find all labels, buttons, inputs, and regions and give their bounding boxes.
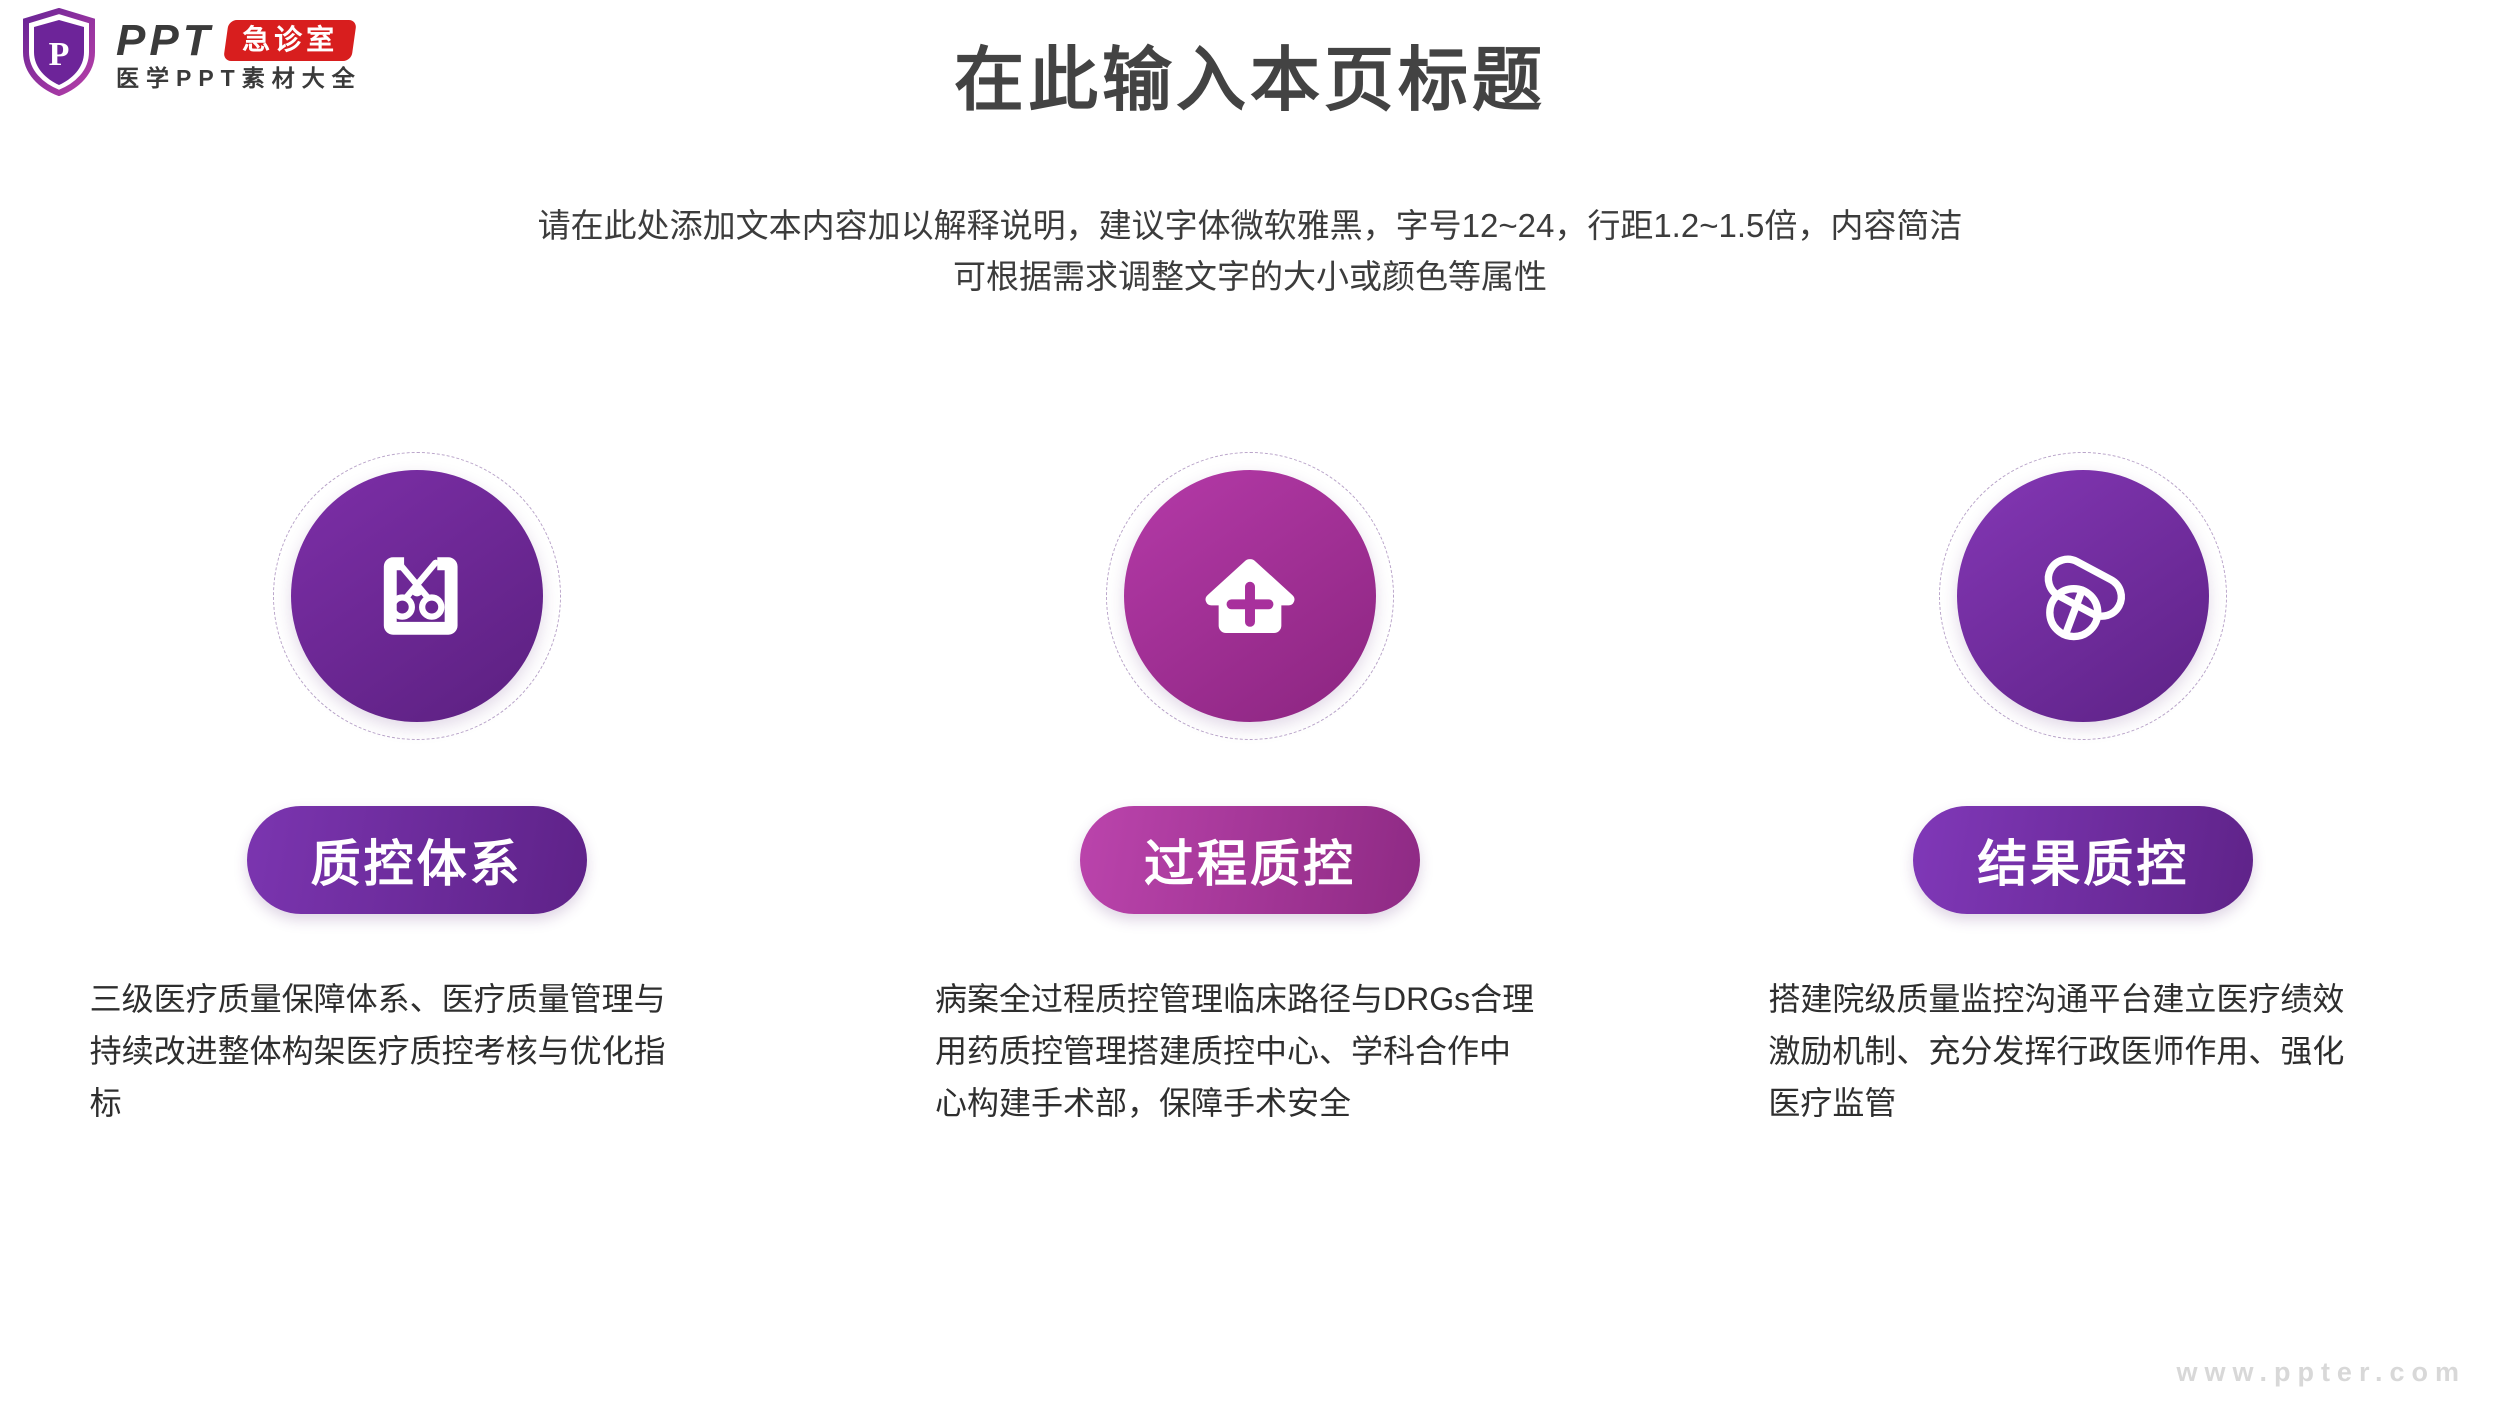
icon-disc-3[interactable] [1957,470,2209,722]
feature-label-3: 结果质控 [1977,824,2189,896]
feature-body-2: 病案全过程质控管理临床路径与DRGs合理用药质控管理搭建质控中心、学科合作中心构… [935,974,1535,1129]
feature-column-2: 过程质控 病案全过程质控管理临床路径与DRGs合理用药质控管理搭建质控中心、学科… [833,452,1666,1272]
pills-medicine-icon [2024,537,2142,655]
feature-pill-1[interactable]: 质控体系 [247,806,587,914]
feature-columns: 质控体系 三级医疗质量保障体系、医疗质量管理与持续改进整体构架医疗质控考核与优化… [0,452,2500,1272]
watermark: www.ppter.com [2176,1357,2466,1388]
feature-column-3: 结果质控 搭建院级质量监控沟通平台建立医疗绩效激励机制、充分发挥行政医师作用、强… [1667,452,2500,1272]
feature-pill-3[interactable]: 结果质控 [1913,806,2253,914]
icon-disc-1[interactable] [291,470,543,722]
icon-ring-2 [1106,452,1394,740]
icon-disc-2[interactable] [1124,470,1376,722]
feature-column-1: 质控体系 三级医疗质量保障体系、医疗质量管理与持续改进整体构架医疗质控考核与优化… [0,452,833,1272]
feature-label-1: 质控体系 [311,824,523,896]
page-subtitle-line1: 请在此处添加文本内容加以解释说明，建议字体微软雅黑，字号12~24，行距1.2~… [538,207,1963,244]
feature-body-3: 搭建院级质量监控沟通平台建立医疗绩效激励机制、充分发挥行政医师作用、强化医疗监管 [1768,974,2368,1129]
hospital-plus-icon [1191,537,1309,655]
slide-canvas: P PPT 急诊室 医学PPT素材大全 在此输入本页标题 请在此处添加文本内容加… [0,0,2500,1406]
page-subtitle: 请在此处添加文本内容加以解释说明，建议字体微软雅黑，字号12~24，行距1.2~… [270,200,2230,302]
icon-ring-3 [1939,452,2227,740]
feature-body-1: 三级医疗质量保障体系、医疗质量管理与持续改进整体构架医疗质控考核与优化指标 [90,974,690,1129]
scissors-surgery-icon [358,537,476,655]
feature-pill-2[interactable]: 过程质控 [1080,806,1420,914]
page-subtitle-line2: 可根据需求调整文字的大小或颜色等属性 [270,251,2230,302]
feature-label-2: 过程质控 [1144,824,1356,896]
page-title: 在此输入本页标题 [0,40,2500,121]
icon-ring-1 [273,452,561,740]
